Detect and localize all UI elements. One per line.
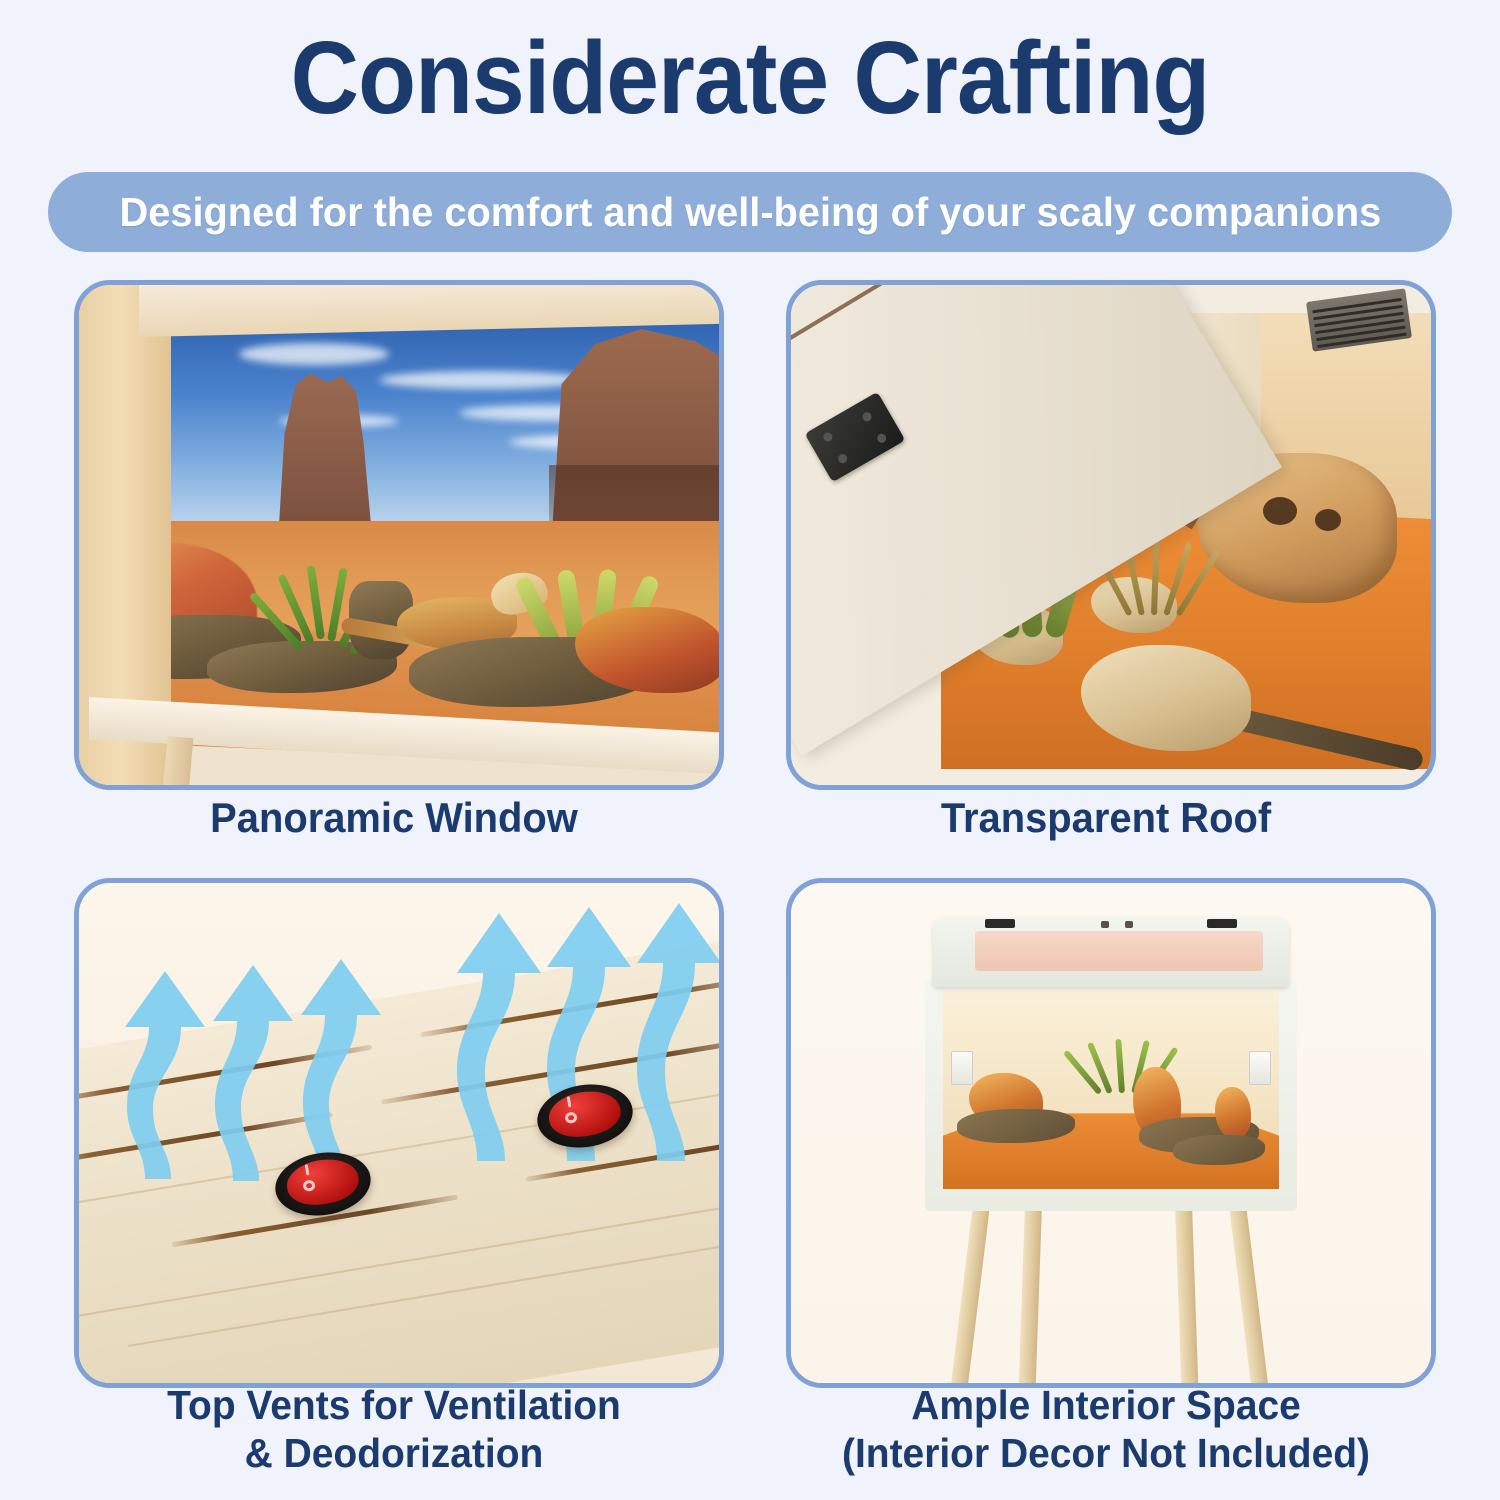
airflow-arrow-icon (631, 901, 719, 1163)
roof-clip[interactable] (1207, 919, 1237, 928)
side-vent-icon (951, 1051, 973, 1085)
airflow-arrow-icon (451, 911, 547, 1163)
caption-top-vents: Top Vents for Ventilation & Deodorizatio… (81, 1382, 708, 1477)
caption-line: & Deodorization (81, 1430, 708, 1478)
page-title: Considerate Crafting (60, 26, 1440, 129)
infographic-page: Considerate Crafting Designed for the co… (0, 0, 1500, 1500)
caption-line: Ample Interior Space (793, 1382, 1420, 1430)
caption-transparent-roof: Transparent Roof (802, 794, 1410, 843)
airflow-arrow-icon (119, 969, 211, 1181)
roof-panel (933, 917, 1289, 987)
caption-line: (Interior Decor Not Included) (793, 1430, 1420, 1478)
top-vents-photo (79, 883, 719, 1383)
caption-line: Top Vents for Ventilation (81, 1382, 708, 1430)
full-product-photo (791, 883, 1431, 1383)
panel-top-vents (74, 878, 724, 1388)
panel-ample-interior-space (786, 878, 1436, 1388)
transparent-roof-photo (791, 285, 1431, 785)
caption-ample-interior-space: Ample Interior Space (Interior Decor Not… (793, 1382, 1420, 1477)
subtitle-text: Designed for the comfort and well-being … (119, 189, 1381, 236)
airflow-arrow-icon (207, 963, 299, 1183)
roof-clip[interactable] (985, 919, 1015, 928)
terrarium-window-photo (79, 285, 719, 785)
airflow-arrow-icon (295, 957, 387, 1185)
panel-panoramic-window (74, 280, 724, 790)
caption-panoramic-window: Panoramic Window (90, 794, 698, 843)
side-vent-icon (1249, 1051, 1271, 1085)
terrarium-cabinet (925, 917, 1297, 1337)
subtitle-banner: Designed for the comfort and well-being … (48, 172, 1452, 252)
panel-transparent-roof (786, 280, 1436, 790)
